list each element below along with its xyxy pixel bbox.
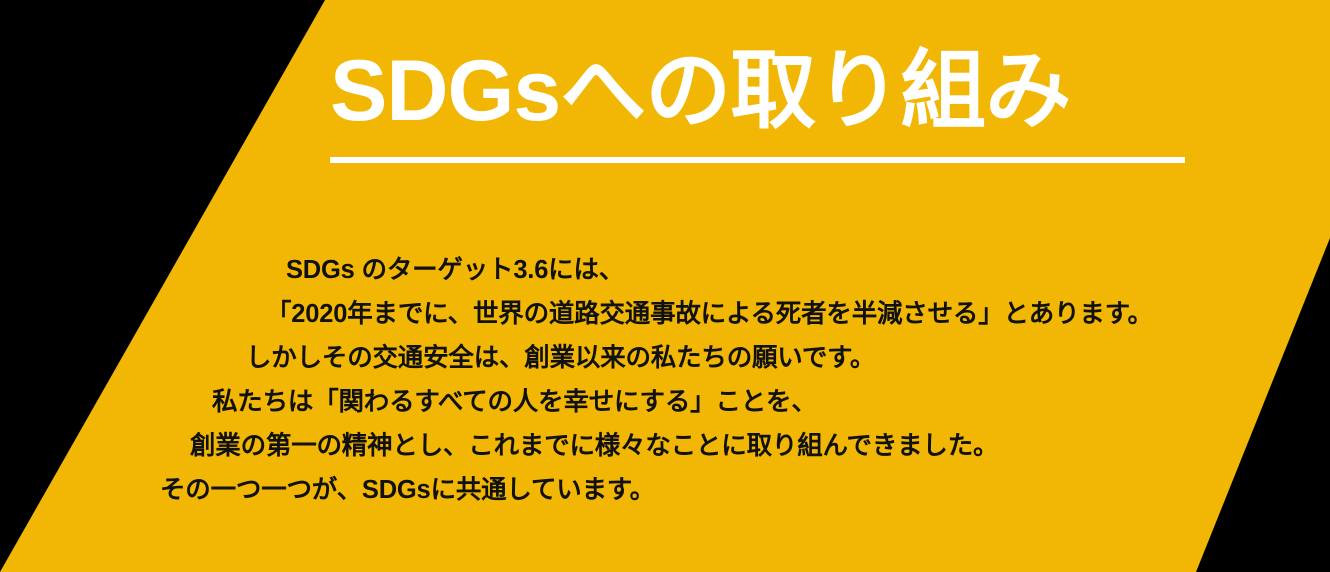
body-line: その一つ一つが、SDGsに共通しています。 xyxy=(0,468,1330,512)
body-line: しかしその交通安全は、創業以来の私たちの願いです。 xyxy=(0,336,1330,380)
body-paragraph: SDGs のターゲット3.6には、 「2020年までに、世界の道路交通事故による… xyxy=(0,248,1330,512)
body-line: SDGs のターゲット3.6には、 xyxy=(0,248,1330,292)
title-underline-rule xyxy=(330,157,1185,163)
heading-block: SDGsへの取り組み xyxy=(330,46,1190,163)
body-line: 私たちは「関わるすべての人を幸せにする」ことを、 xyxy=(0,380,1330,424)
page-title: SDGsへの取り組み xyxy=(330,46,1190,136)
banner-section: SDGsへの取り組み SDGs のターゲット3.6には、 「2020年までに、世… xyxy=(0,0,1330,572)
body-line: 「2020年までに、世界の道路交通事故による死者を半減させる」とあります。 xyxy=(0,292,1330,336)
body-line: 創業の第一の精神とし、これまでに様々なことに取り組んできました。 xyxy=(0,424,1330,468)
